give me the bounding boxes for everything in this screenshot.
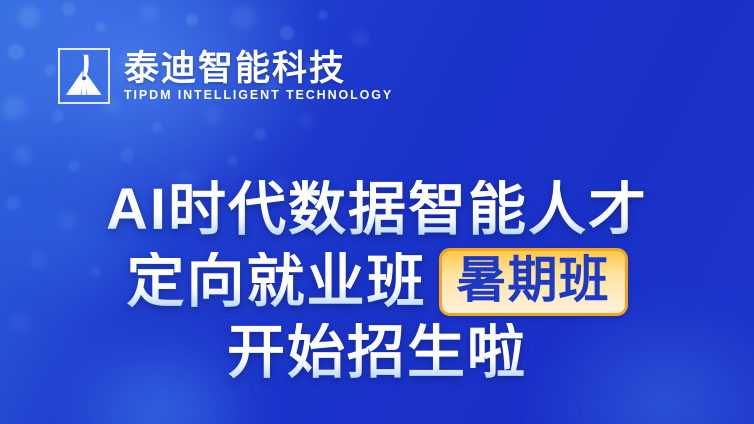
tipdm-triangle-mark-icon (58, 48, 110, 104)
bokeh-dot (352, 30, 368, 46)
bokeh-dot (232, 6, 256, 30)
headline-line-1-text: AI时代数据智能人才 (106, 180, 648, 241)
headline-line-2-text: 定向就业班 (126, 252, 426, 313)
brand-logo-text: 泰迪智能科技 TIPDM INTELLIGENT TECHNOLOGY (124, 51, 393, 102)
bokeh-dot (300, 114, 314, 128)
bokeh-dot (96, 22, 106, 32)
summer-session-badge-label: 暑期班 (457, 254, 610, 307)
bokeh-dot (318, 10, 328, 20)
summer-session-badge: 暑期班 (439, 248, 628, 317)
headline-line-3: 开始招生啦 (227, 323, 527, 384)
promo-banner: 泰迪智能科技 TIPDM INTELLIGENT TECHNOLOGY AI时代… (0, 0, 754, 424)
bokeh-dot (68, 160, 80, 172)
company-name-cn: 泰迪智能科技 (124, 51, 393, 86)
headline-line-2: 定向就业班 暑期班 (126, 248, 627, 317)
bokeh-dot (140, 4, 158, 22)
bokeh-dot (44, 64, 56, 76)
bokeh-dot (14, 146, 32, 164)
bokeh-dot (8, 44, 24, 60)
bokeh-dot (204, 106, 222, 124)
headline-block: AI时代数据智能人才 定向就业班 暑期班 开始招生啦 (0, 180, 754, 384)
bokeh-dot (186, 14, 198, 26)
bokeh-dot (228, 156, 238, 166)
headline-line-1: AI时代数据智能人才 (106, 180, 648, 241)
bokeh-dot (120, 148, 134, 162)
bokeh-dot (62, 2, 76, 16)
brand-logo: 泰迪智能科技 TIPDM INTELLIGENT TECHNOLOGY (58, 48, 393, 104)
bokeh-dot (18, 6, 40, 28)
company-name-en: TIPDM INTELLIGENT TECHNOLOGY (124, 89, 393, 102)
bokeh-dot (2, 96, 26, 120)
bokeh-dot (152, 122, 162, 132)
bokeh-dot (280, 26, 294, 40)
bokeh-dot (52, 110, 64, 122)
bokeh-dot (254, 128, 266, 140)
headline-line-3-text: 开始招生啦 (227, 323, 527, 384)
